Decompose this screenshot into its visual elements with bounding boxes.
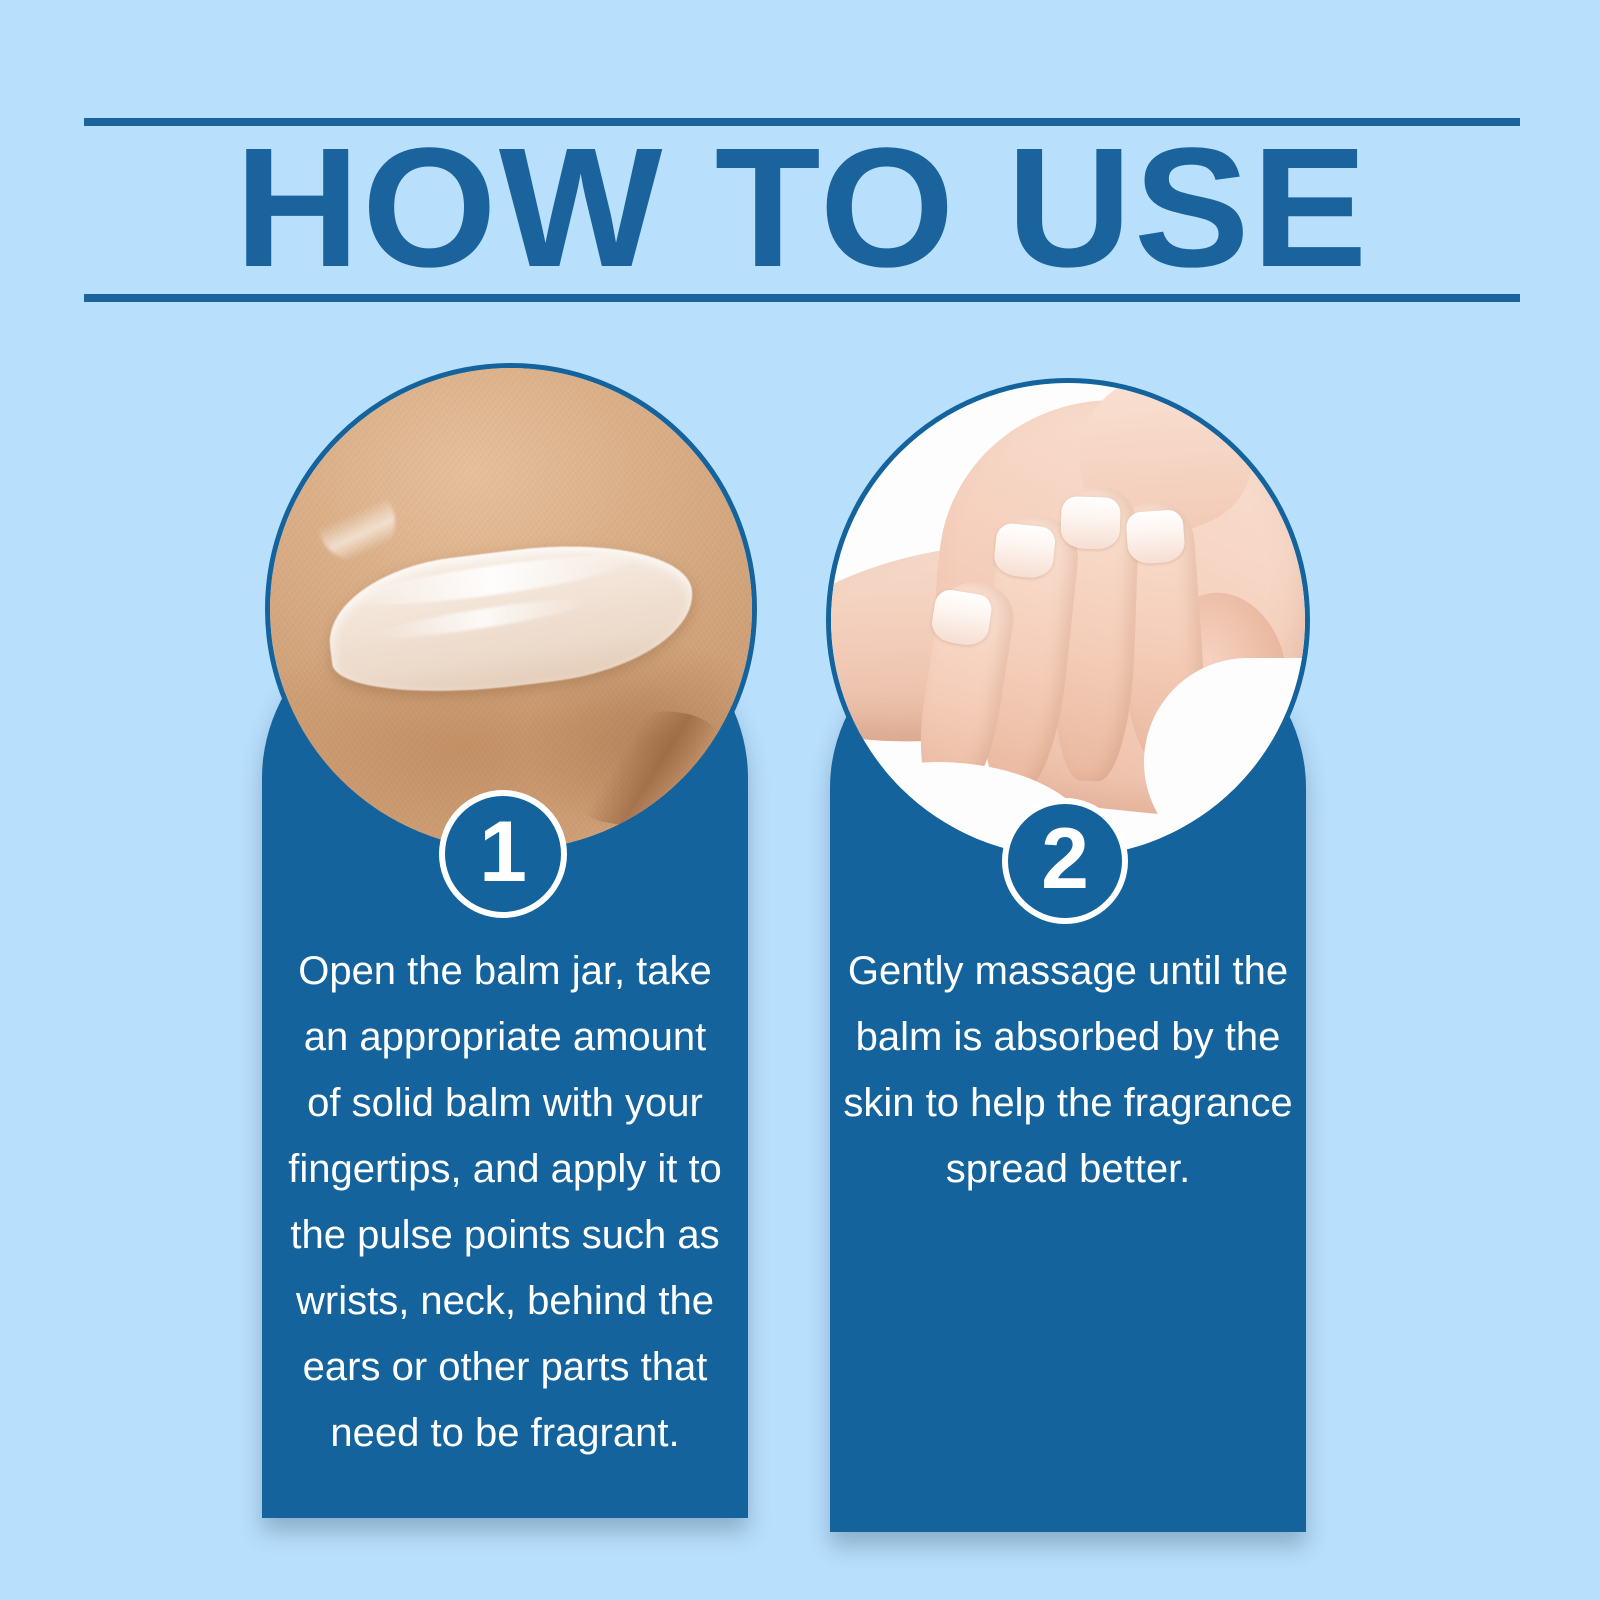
title-rule-bottom [84,294,1520,302]
step-2-photo [826,378,1310,862]
step-1-photo [265,363,757,855]
hand-massage-image [831,383,1305,857]
fingernail-4 [1126,509,1186,565]
step-badge-1: 1 [439,790,567,918]
step-2-description: Gently massage until the balm is absorbe… [840,938,1296,1202]
step-badge-2: 2 [1002,798,1128,924]
fingernail-3 [1060,496,1121,550]
step-badge-1-number: 1 [479,809,527,895]
how-to-use-infographic: HOW TO USE 1 Open the balm jar, take an … [0,0,1600,1600]
header: HOW TO USE [84,110,1520,305]
page-title: HOW TO USE [70,122,1535,294]
step-1-description: Open the balm jar, take an appropriate a… [282,938,728,1466]
balm-smear-image [270,368,752,850]
step-badge-2-number: 2 [1041,816,1089,902]
